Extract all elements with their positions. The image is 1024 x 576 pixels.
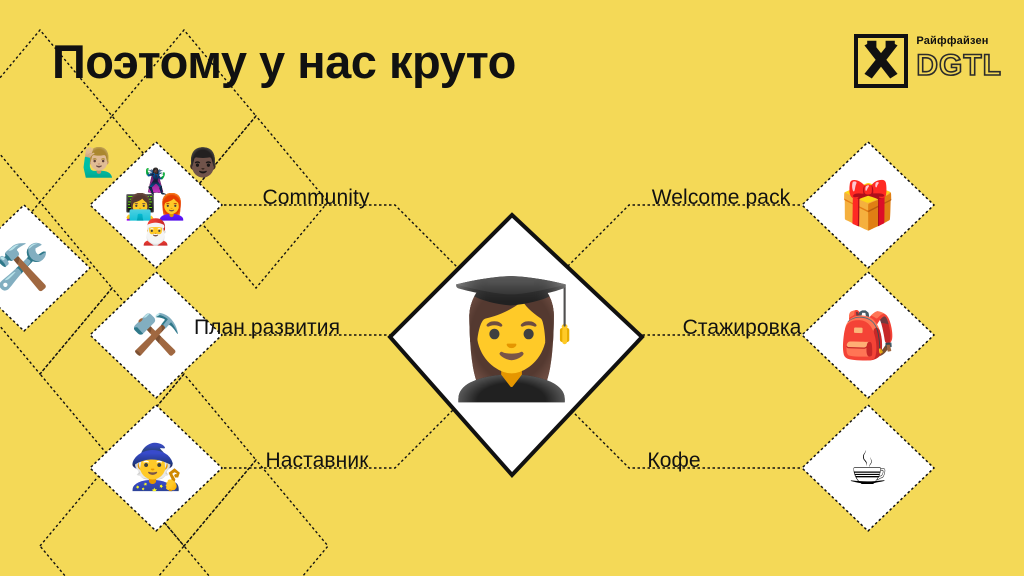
woman-student-emoji: 👩‍🎓	[440, 283, 583, 398]
node-kofe[interactable]: ☕	[847, 445, 888, 491]
node-tools: 🛠️	[0, 246, 49, 290]
mage-emoji: 🧙	[129, 446, 184, 490]
hammer-and-wrench-emoji: 🛠️	[0, 246, 49, 290]
node-nastavnik[interactable]: 🧙	[129, 446, 184, 490]
label-nastavnik: Наставник	[266, 449, 369, 473]
label-community: Community	[262, 186, 369, 210]
label-plan-razvitiya: План развития	[194, 316, 340, 340]
node-welcome-pack[interactable]: 🎁	[839, 182, 896, 228]
gift-emoji: 🎁	[839, 182, 896, 228]
label-welcome-pack: Welcome pack	[652, 186, 791, 210]
man-emoji: 👨🏿	[186, 149, 221, 177]
node-stazhirovka[interactable]: 🎒	[839, 312, 896, 358]
backpack-emoji: 🎒	[839, 312, 896, 358]
slide-canvas: Поэтому у нас круто Райффайзен DGTL	[0, 0, 1024, 576]
label-kofe: Кофе	[647, 449, 700, 473]
hot-beverage-emoji: ☕	[847, 445, 888, 491]
man-raising-hand-emoji: 🙋🏼‍♂️	[82, 149, 117, 177]
node-plan-razvitiya[interactable]: ⚒️	[131, 315, 181, 355]
label-stazhirovka: Стажировка	[683, 316, 802, 340]
node-center[interactable]: 👩‍🎓	[440, 283, 583, 398]
hammer-and-pick-emoji: ⚒️	[131, 315, 181, 355]
community-people-emoji: 🦹🏿‍♀️ 👩‍💻👩‍🦰 🎅	[125, 170, 187, 245]
node-community[interactable]: 🦹🏿‍♀️ 👩‍💻👩‍🦰 🎅	[125, 170, 187, 245]
